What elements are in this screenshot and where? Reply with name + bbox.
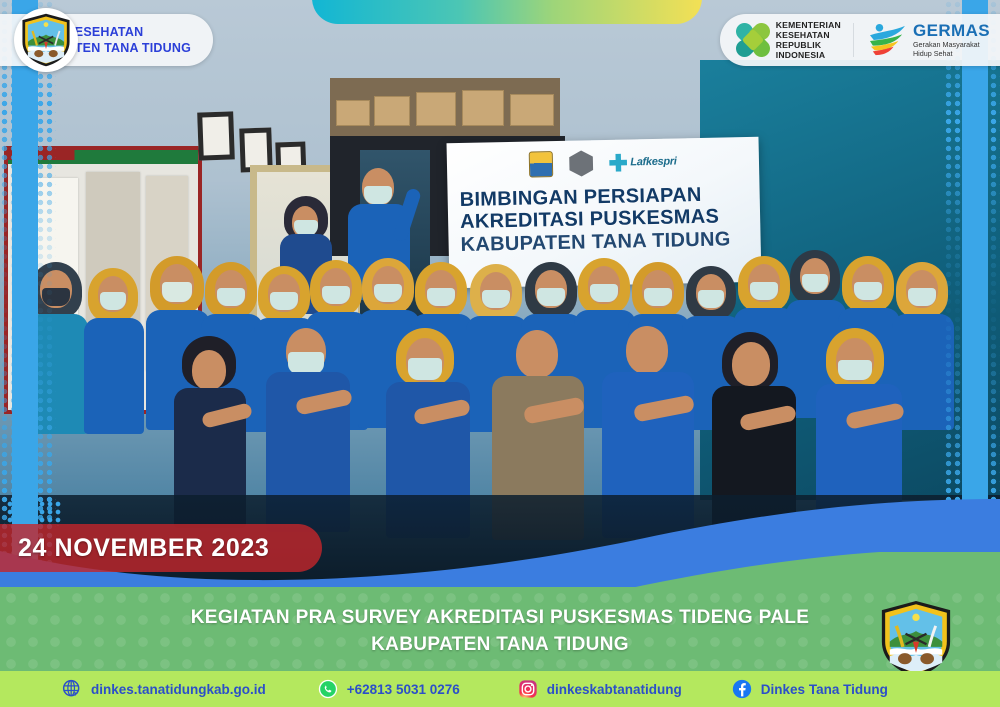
caption-line-2: KABUPATEN TANA TIDUNG <box>0 632 1000 659</box>
footer-whatsapp-label: +62813 5031 0276 <box>347 682 460 697</box>
regency-seal-icon <box>14 8 78 72</box>
whatsapp-icon <box>318 679 338 699</box>
germas-title: GERMAS <box>913 22 990 39</box>
footer-facebook[interactable]: Dinkes Tana Tidung <box>732 679 888 699</box>
germas-mark-icon <box>866 23 908 57</box>
footer-instagram-label: dinkeskabtanatidung <box>547 682 682 697</box>
footer-whatsapp[interactable]: +62813 5031 0276 <box>318 679 460 699</box>
germas-subtitle-2: Hidup Sehat <box>913 50 990 59</box>
footer-facebook-label: Dinkes Tana Tidung <box>761 682 888 697</box>
globe-icon <box>62 679 82 699</box>
footer-website-label: dinkes.tanatidungkab.go.id <box>91 682 266 697</box>
kemenkes-logo: KEMENTERIAN KESEHATAN REPUBLIK INDONESIA <box>736 20 841 61</box>
contact-footer: dinkes.tanatidungkab.go.id +62813 5031 0… <box>0 671 1000 707</box>
instagram-icon <box>518 679 538 699</box>
kemenkes-line-2: KESEHATAN <box>776 30 841 40</box>
kemenkes-line-3: REPUBLIK <box>776 40 841 50</box>
caption-line-1: KEGIATAN PRA SURVEY AKREDITASI PUSKESMAS… <box>0 605 1000 632</box>
footer-instagram[interactable]: dinkeskabtanatidung <box>518 679 682 699</box>
germas-text: GERMAS Gerakan Masyarakat Hidup Sehat <box>913 22 990 59</box>
kemenkes-mark-icon <box>736 23 770 57</box>
date-badge: 24 NOVEMBER 2023 <box>0 524 322 572</box>
regency-seal-bottom-icon <box>874 597 958 681</box>
kemenkes-line-1: KEMENTERIAN <box>776 20 841 30</box>
date-text: 24 NOVEMBER 2023 <box>18 534 269 563</box>
ministry-logos-badge: KEMENTERIAN KESEHATAN REPUBLIK INDONESIA… <box>720 14 1000 66</box>
poster-canvas: Lafkespri BIMBINGAN PERSIAPAN AKREDITASI… <box>0 0 1000 707</box>
divider <box>853 23 854 57</box>
top-gradient-tab <box>312 0 702 24</box>
footer-website[interactable]: dinkes.tanatidungkab.go.id <box>62 679 266 699</box>
caption-block: KEGIATAN PRA SURVEY AKREDITASI PUSKESMAS… <box>0 605 1000 659</box>
germas-logo: GERMAS Gerakan Masyarakat Hidup Sehat <box>866 22 990 59</box>
facebook-icon <box>732 679 752 699</box>
kemenkes-text: KEMENTERIAN KESEHATAN REPUBLIK INDONESIA <box>776 20 841 61</box>
kemenkes-line-4: INDONESIA <box>776 50 841 60</box>
